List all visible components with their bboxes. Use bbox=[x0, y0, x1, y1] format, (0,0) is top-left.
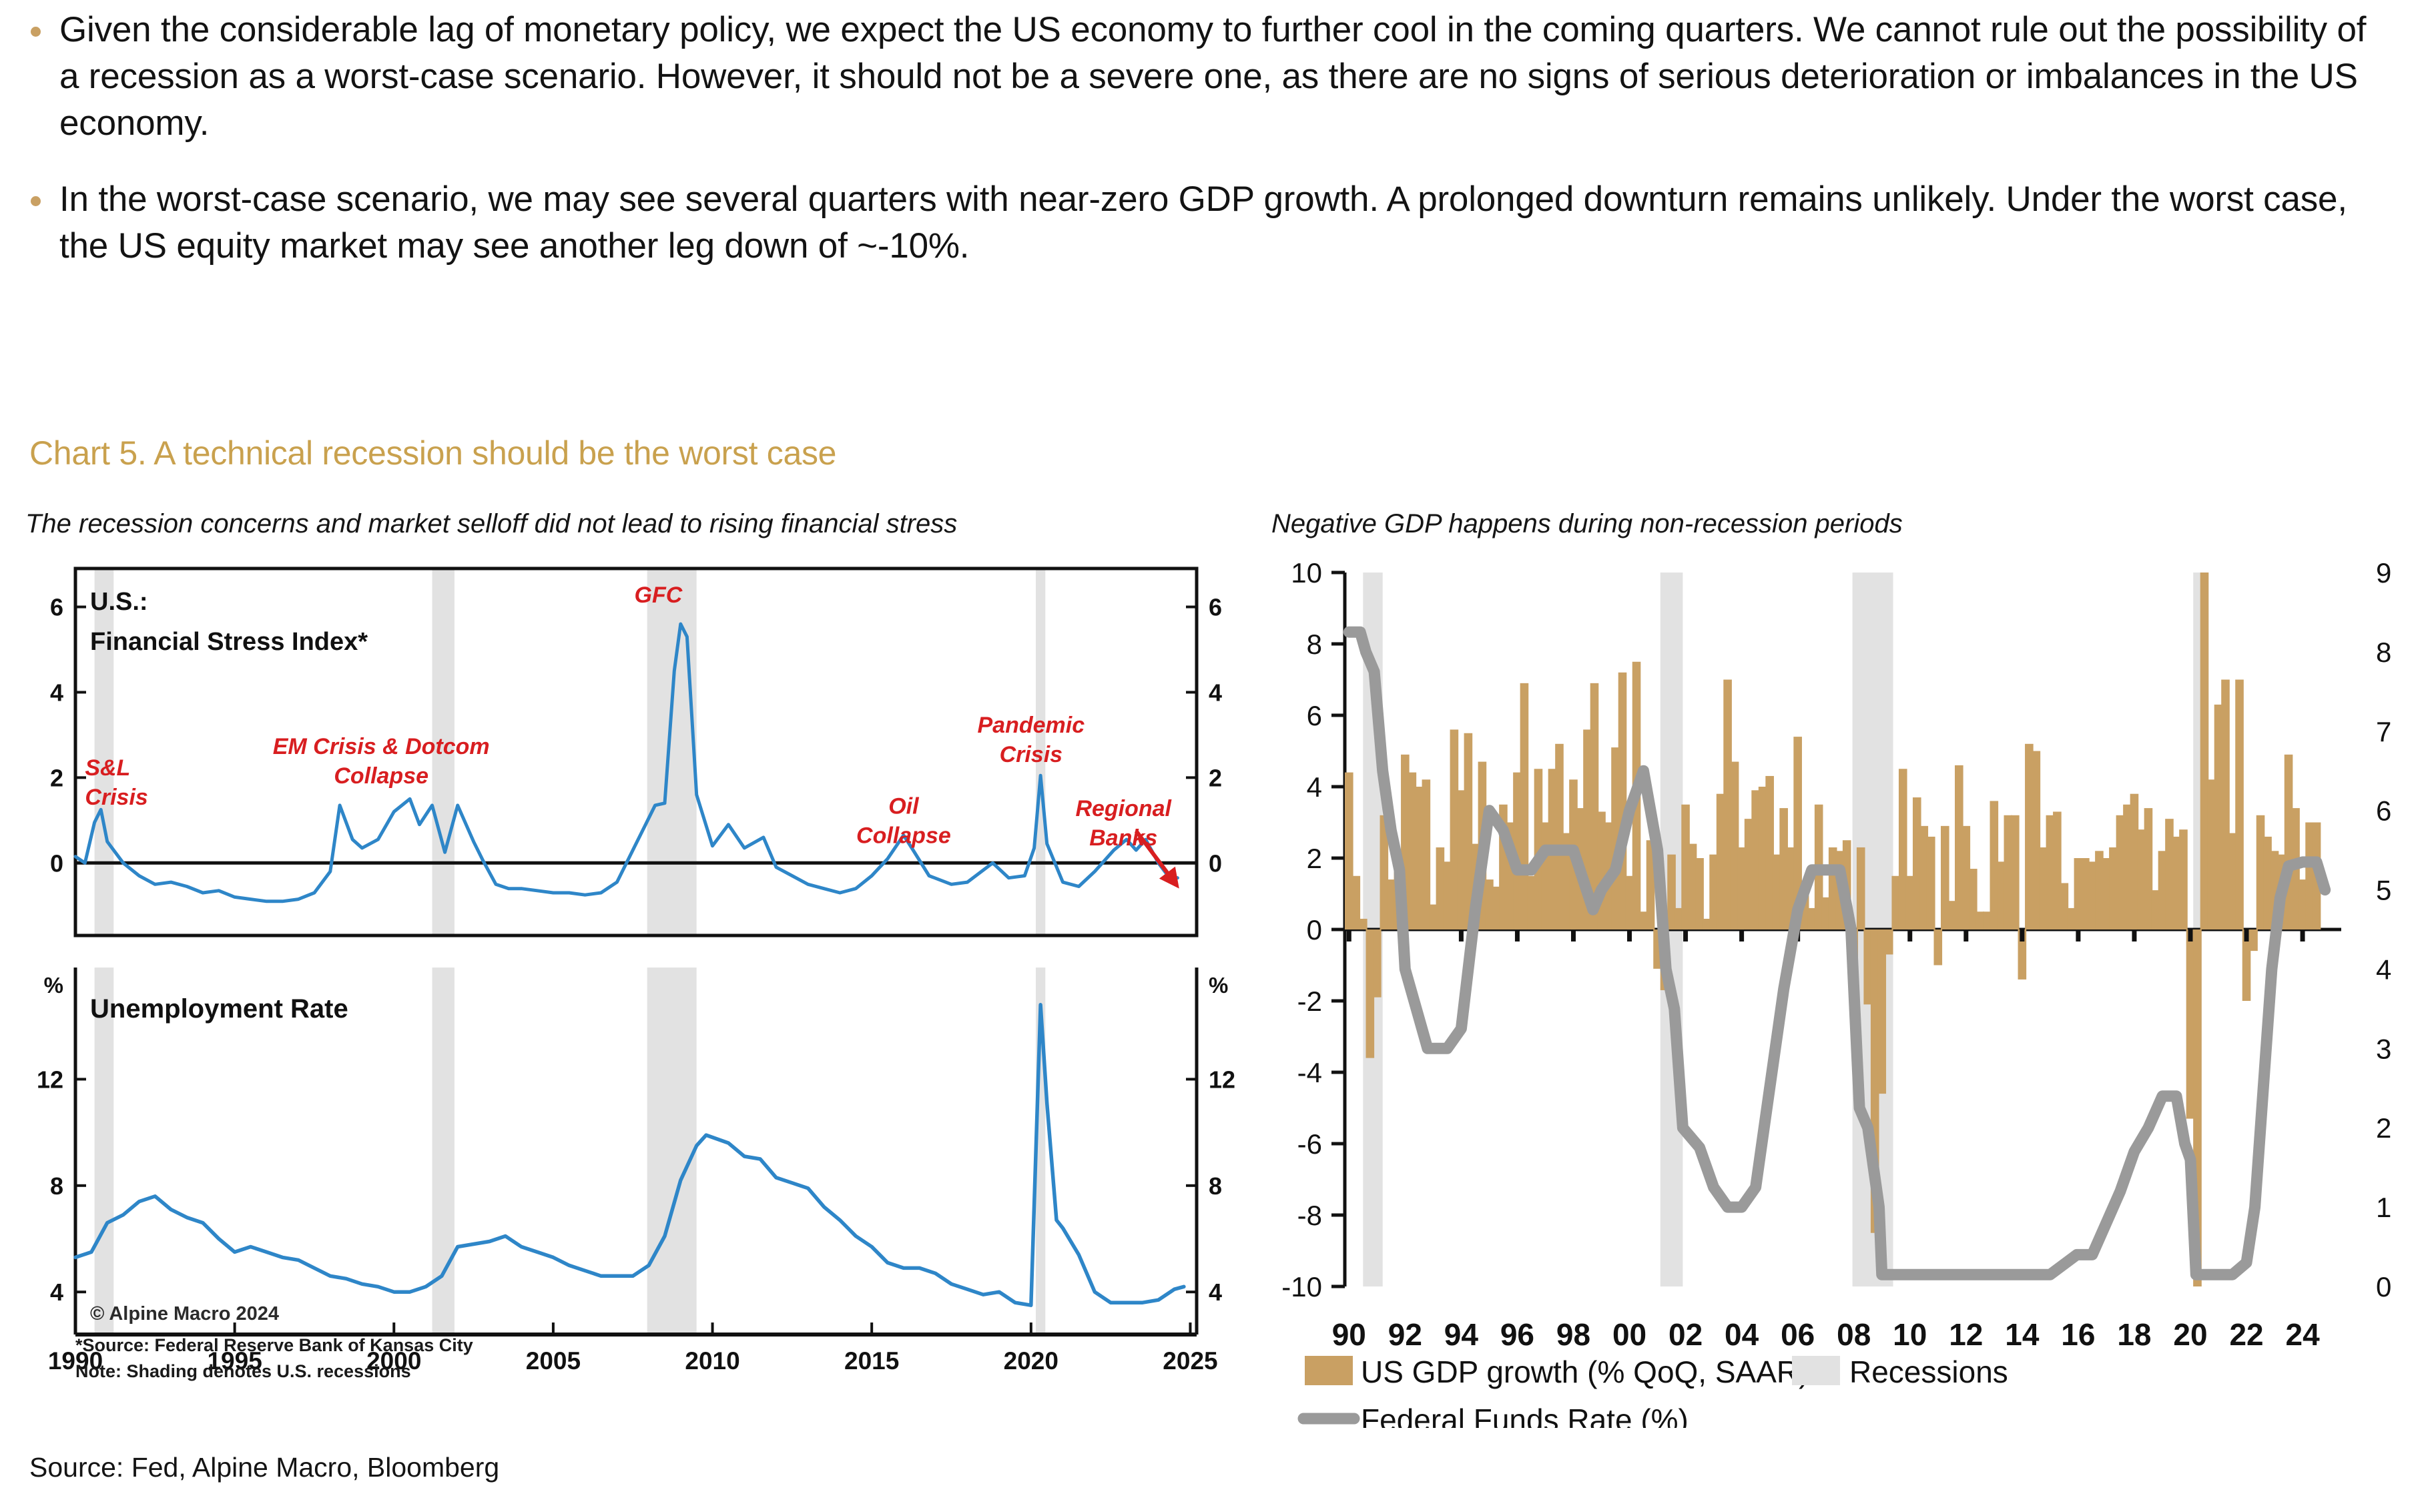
x-tick-label: 98 bbox=[1556, 1317, 1590, 1352]
y-tick-label: 6 bbox=[50, 594, 63, 621]
y-tick-label: 12 bbox=[37, 1066, 63, 1093]
x-tick-label: 18 bbox=[2117, 1317, 2151, 1352]
gdp-bar bbox=[1359, 919, 1367, 929]
legend-label-gdp: US GDP growth (% QoQ, SAAR) bbox=[1361, 1355, 1809, 1389]
left-chart-subtitle: The recession concerns and market sellof… bbox=[25, 507, 1120, 540]
y-tick-label: 0 bbox=[1209, 849, 1222, 877]
bottom-panel-label: Unemployment Rate bbox=[90, 994, 348, 1024]
y-tick-label-right: 1 bbox=[2376, 1192, 2391, 1223]
x-tick-label: 16 bbox=[2061, 1317, 2095, 1352]
chart-annotation: EM Crisis & Dotcom bbox=[273, 734, 490, 759]
y-tick-label-left: 2 bbox=[1307, 843, 1322, 874]
y-tick-label: 2 bbox=[1209, 764, 1222, 791]
bullet-text: Given the considerable lag of monetary p… bbox=[59, 7, 2385, 147]
left-chart-footnote-note: Note: Shading denotes U.S. recessions bbox=[75, 1359, 473, 1385]
x-tick-label: 92 bbox=[1388, 1317, 1422, 1352]
x-tick-label: 2010 bbox=[685, 1347, 739, 1375]
gdp-bar bbox=[1695, 858, 1704, 929]
bullet-text: In the worst-case scenario, we may see s… bbox=[59, 176, 2385, 270]
source-line: Source: Fed, Alpine Macro, Bloomberg bbox=[29, 1452, 499, 1483]
y-tick-label: 4 bbox=[50, 1278, 63, 1306]
recession-band bbox=[95, 569, 114, 935]
bullet-list: Given the considerable lag of monetary p… bbox=[0, 0, 2432, 270]
top-panel-label: U.S.: bbox=[90, 588, 148, 616]
gdp-bar bbox=[1857, 847, 1865, 929]
x-tick-label: 24 bbox=[2285, 1317, 2320, 1352]
left-chart-svg: 6644220012128844%%1990199520002005201020… bbox=[25, 540, 1253, 1448]
gdp-bar bbox=[2249, 929, 2258, 951]
x-tick-label: 2025 bbox=[1163, 1347, 1217, 1375]
y-tick-label-left: 0 bbox=[1307, 914, 1322, 946]
y-tick-label-left: -10 bbox=[1281, 1271, 1322, 1302]
y-tick-label: 8 bbox=[50, 1172, 63, 1200]
y-tick-label: 0 bbox=[50, 849, 63, 877]
gdp-bar bbox=[1373, 929, 1382, 998]
x-tick-label: 90 bbox=[1332, 1317, 1366, 1352]
gdp-bar bbox=[1927, 837, 1935, 929]
gdp-bar bbox=[2011, 815, 2020, 929]
right-chart-subtitle: Negative GDP happens during non-recessio… bbox=[1271, 507, 2419, 540]
left-chart-footnote-source: *Source: Federal Reserve Bank of Kansas … bbox=[75, 1333, 473, 1359]
x-tick-label: 04 bbox=[1725, 1317, 1759, 1352]
x-tick-label: 14 bbox=[2005, 1317, 2040, 1352]
data-line bbox=[75, 1005, 1184, 1305]
y-tick-label: 4 bbox=[50, 679, 63, 706]
gdp-bar bbox=[2179, 829, 2188, 929]
chart-annotation: Pandemic bbox=[978, 713, 1085, 738]
gdp-bar bbox=[2235, 680, 2244, 930]
y-tick-label-left: -8 bbox=[1297, 1200, 1322, 1231]
x-tick-label: 10 bbox=[1893, 1317, 1927, 1352]
bullet-item: Given the considerable lag of monetary p… bbox=[31, 7, 2385, 147]
chart-annotation: Crisis bbox=[1000, 742, 1063, 767]
fed-funds-line bbox=[1349, 632, 2325, 1274]
chart-title: Chart 5. A technical recession should be… bbox=[29, 434, 836, 472]
x-tick-label: 2020 bbox=[1004, 1347, 1058, 1375]
x-tick-label: 02 bbox=[1668, 1317, 1703, 1352]
y-tick-label-left: 10 bbox=[1291, 557, 1322, 589]
bullet-dot-icon bbox=[31, 196, 41, 206]
y-axis-unit-label: % bbox=[44, 973, 63, 998]
legend-label-recessions: Recessions bbox=[1849, 1355, 2008, 1389]
chart-annotation: Oil bbox=[888, 794, 920, 819]
y-tick-label-left: 4 bbox=[1307, 771, 1322, 803]
gdp-bar bbox=[1933, 929, 1942, 966]
y-tick-label-right: 4 bbox=[2376, 954, 2391, 985]
right-chart-svg: 1086420-2-4-6-8-109876543210909294969800… bbox=[1271, 540, 2419, 1428]
chart-annotation: S&L bbox=[85, 755, 130, 781]
y-tick-label: 2 bbox=[50, 764, 63, 791]
top-panel-label: Financial Stress Index* bbox=[90, 628, 368, 656]
y-tick-label-left: 6 bbox=[1307, 700, 1322, 731]
right-chart-panel: Negative GDP happens during non-recessio… bbox=[1271, 507, 2419, 1428]
chart-annotation: Collapse bbox=[856, 823, 951, 849]
chart-annotation: Regional bbox=[1075, 796, 1172, 821]
chart-annotation: Collapse bbox=[334, 763, 428, 789]
y-tick-label-right: 3 bbox=[2376, 1033, 2391, 1064]
x-tick-label: 2005 bbox=[526, 1347, 581, 1375]
recession-band bbox=[647, 569, 697, 935]
y-tick-label-left: -6 bbox=[1297, 1128, 1322, 1160]
x-tick-label: 20 bbox=[2173, 1317, 2207, 1352]
y-tick-label-right: 0 bbox=[2376, 1271, 2391, 1302]
legend-label-fedfunds: Federal Funds Rate (%) bbox=[1361, 1403, 1689, 1428]
y-tick-label-left: -4 bbox=[1297, 1057, 1322, 1088]
y-axis-unit-label: % bbox=[1209, 973, 1228, 998]
chart-annotation: Crisis bbox=[85, 785, 147, 810]
x-tick-label: 96 bbox=[1500, 1317, 1534, 1352]
left-chart-panel: The recession concerns and market sellof… bbox=[25, 507, 1253, 1448]
bullet-item: In the worst-case scenario, we may see s… bbox=[31, 176, 2385, 270]
y-tick-label: 4 bbox=[1209, 679, 1222, 706]
y-tick-label: 4 bbox=[1209, 1278, 1222, 1306]
y-tick-label: 12 bbox=[1209, 1066, 1235, 1093]
legend-swatch-gdp bbox=[1305, 1356, 1353, 1385]
legend-swatch-recessions bbox=[1792, 1356, 1840, 1385]
x-tick-label: 06 bbox=[1781, 1317, 1815, 1352]
gdp-bar bbox=[1885, 929, 1893, 954]
x-tick-label: 2015 bbox=[844, 1347, 899, 1375]
x-tick-label: 00 bbox=[1612, 1317, 1646, 1352]
x-tick-label: 12 bbox=[1949, 1317, 1983, 1352]
y-tick-label: 8 bbox=[1209, 1172, 1222, 1200]
recession-band bbox=[647, 968, 697, 1335]
chart-annotation: GFC bbox=[635, 583, 683, 608]
bullet-dot-icon bbox=[31, 27, 41, 37]
y-tick-label-left: -2 bbox=[1297, 986, 1322, 1017]
y-tick-label-right: 8 bbox=[2376, 637, 2391, 668]
y-tick-label: 6 bbox=[1209, 594, 1222, 621]
y-tick-label-right: 6 bbox=[2376, 795, 2391, 827]
y-tick-label-left: 8 bbox=[1307, 629, 1322, 660]
x-tick-label: 08 bbox=[1837, 1317, 1871, 1352]
copyright-label: © Alpine Macro 2024 bbox=[90, 1303, 279, 1325]
y-tick-label-right: 7 bbox=[2376, 716, 2391, 747]
y-tick-label-right: 2 bbox=[2376, 1112, 2391, 1144]
x-tick-label: 94 bbox=[1444, 1317, 1479, 1352]
x-tick-label: 22 bbox=[2229, 1317, 2263, 1352]
y-tick-label-right: 9 bbox=[2376, 557, 2391, 589]
y-tick-label-right: 5 bbox=[2376, 875, 2391, 906]
